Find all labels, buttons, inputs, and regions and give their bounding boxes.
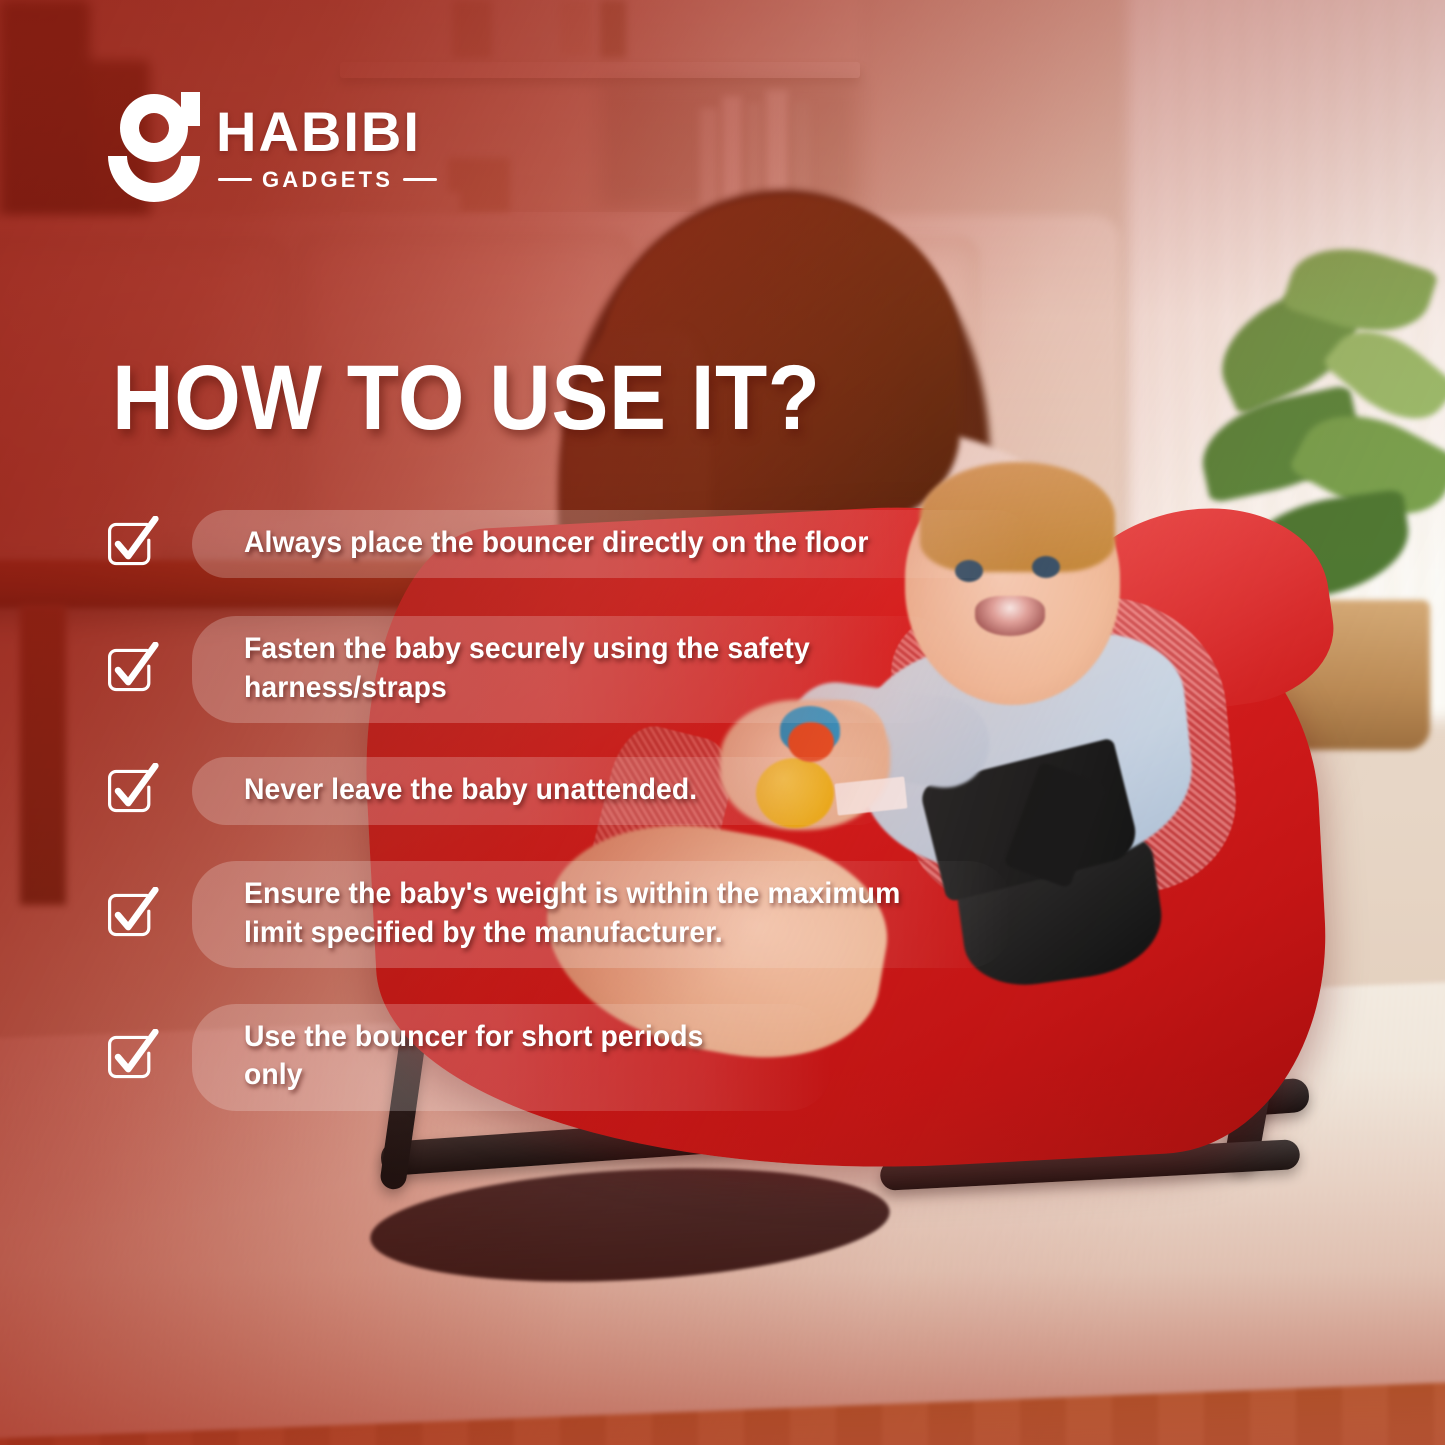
brand-tagline: GADGETS xyxy=(262,167,393,193)
promo-graphic: HABIBI GADGETS HOW TO USE IT? Always pla… xyxy=(0,0,1445,1445)
checkbox-checked-icon[interactable] xyxy=(104,763,160,819)
page-title: HOW TO USE IT? xyxy=(112,352,820,444)
foreground-content: HABIBI GADGETS HOW TO USE IT? Always pla… xyxy=(0,0,1445,1445)
list-item-label: Use the bouncer for short periods only xyxy=(244,1018,759,1095)
list-item-label: Fasten the baby securely using the safet… xyxy=(244,630,874,707)
list-item[interactable]: Always place the bouncer directly on the… xyxy=(104,510,1204,578)
list-item-pill: Use the bouncer for short periods only xyxy=(192,1004,832,1111)
checkbox-checked-icon[interactable] xyxy=(104,887,160,943)
instructions-list: Always place the bouncer directly on the… xyxy=(104,510,1204,1137)
list-item[interactable]: Ensure the baby's weight is within the m… xyxy=(104,861,1204,968)
tagline-rule-right xyxy=(403,178,437,181)
checkbox-checked-icon[interactable] xyxy=(104,642,160,698)
list-item[interactable]: Never leave the baby unattended. xyxy=(104,757,1204,825)
list-item-label: Ensure the baby's weight is within the m… xyxy=(244,875,931,952)
checkbox-checked-icon[interactable] xyxy=(104,516,160,572)
list-item-pill: Always place the bouncer directly on the… xyxy=(192,510,1030,578)
list-item-label: Never leave the baby unattended. xyxy=(244,771,697,809)
brand-tagline-row: GADGETS xyxy=(216,167,437,193)
checkbox-checked-icon[interactable] xyxy=(104,1029,160,1085)
brand-name: HABIBI xyxy=(216,104,437,160)
list-item-pill: Never leave the baby unattended. xyxy=(192,757,892,825)
g-circle-logo-icon xyxy=(106,92,202,204)
list-item-pill: Fasten the baby securely using the safet… xyxy=(192,616,952,723)
tagline-rule-left xyxy=(218,178,252,181)
list-item-label: Always place the bouncer directly on the… xyxy=(244,524,868,562)
brand-wordmark: HABIBI GADGETS xyxy=(216,104,437,193)
list-item[interactable]: Use the bouncer for short periods only xyxy=(104,1004,1204,1111)
brand-logo[interactable]: HABIBI GADGETS xyxy=(106,92,437,204)
list-item[interactable]: Fasten the baby securely using the safet… xyxy=(104,616,1204,723)
list-item-pill: Ensure the baby's weight is within the m… xyxy=(192,861,1012,968)
